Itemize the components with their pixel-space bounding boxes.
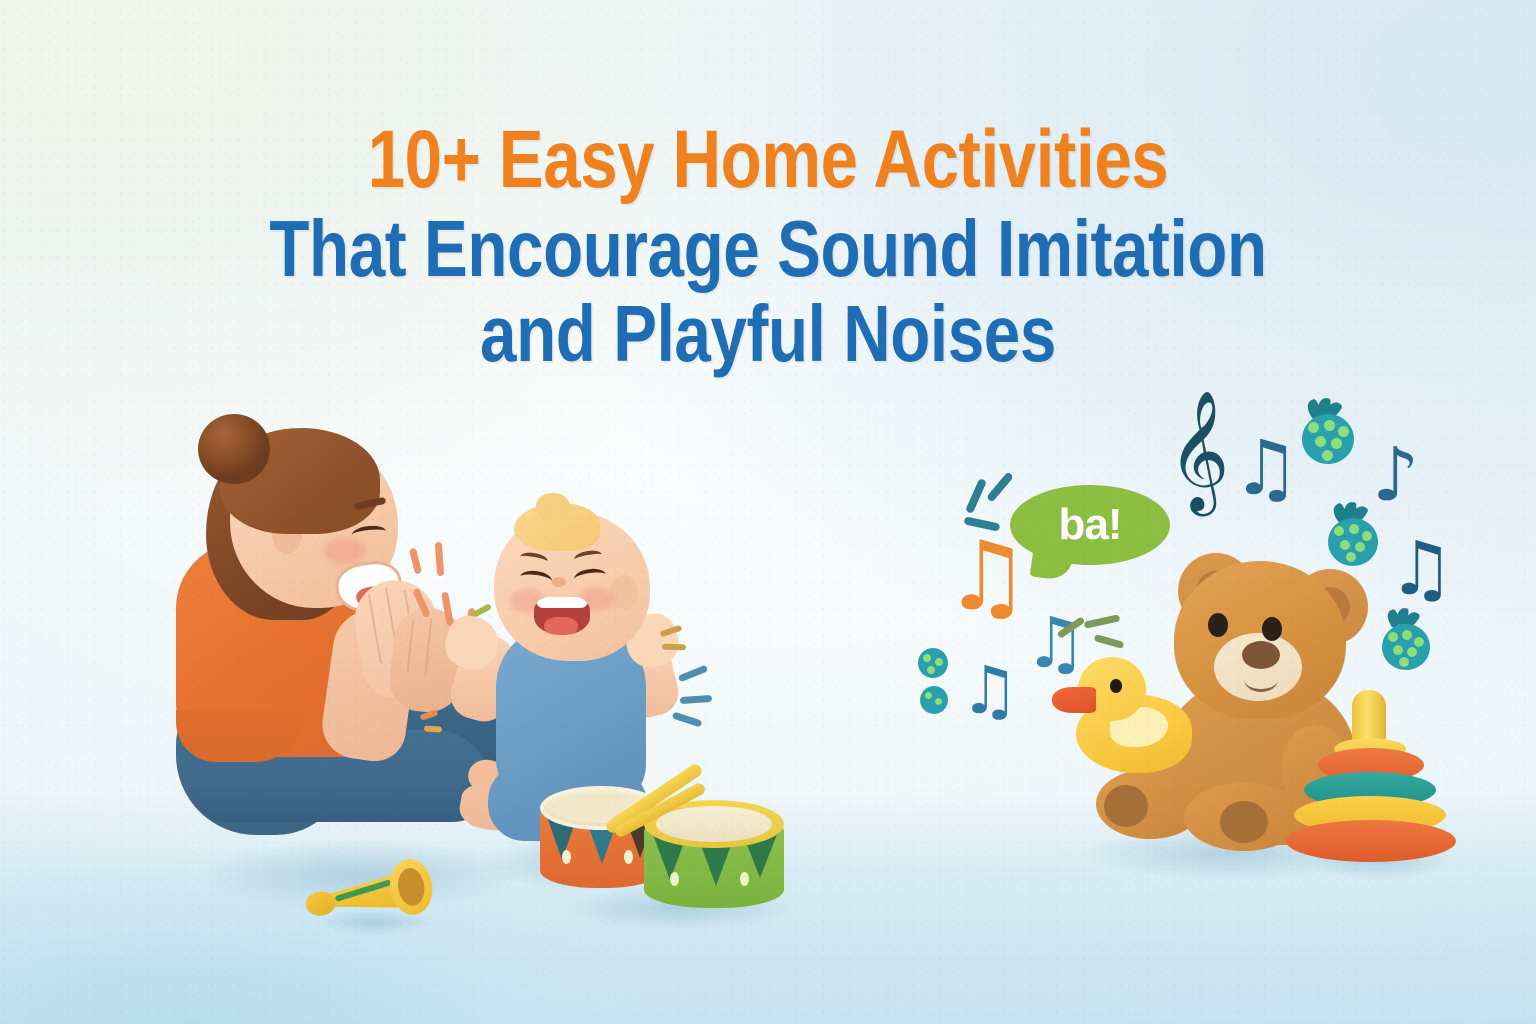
mother-cheek-blush	[324, 538, 366, 564]
motion-dash	[680, 695, 712, 704]
rattle-ball-body	[918, 648, 948, 678]
duck-beak	[1052, 687, 1096, 713]
stacking-rings	[1290, 690, 1460, 865]
baby-open-mouth	[534, 597, 590, 635]
beamed-eighth-notes-right-icon: ♫	[1232, 430, 1300, 506]
baby-teeth	[536, 597, 588, 608]
rubber-duck	[1058, 655, 1193, 785]
toy-drums	[540, 770, 810, 900]
motion-dash	[965, 478, 987, 514]
title-line-3: and Playful Noises	[138, 293, 1398, 375]
treble-clef-icon: 𝄞	[1168, 398, 1229, 502]
teddy-eye-left	[1208, 613, 1228, 637]
speech-bubble-text: ba!	[1010, 485, 1170, 565]
teddy-nose	[1242, 641, 1280, 669]
teddy-eye-right	[1262, 617, 1282, 641]
baby-nose	[552, 577, 566, 587]
baby-ear	[610, 575, 638, 609]
baby-hair-curl	[536, 493, 570, 523]
teddy-mouth	[1244, 667, 1278, 692]
eighth-note-right-icon: ♪	[1372, 438, 1419, 512]
drum-green-head	[656, 806, 772, 842]
motion-dash	[424, 725, 442, 732]
title-line-1: 10+ Easy Home Activities	[138, 118, 1398, 202]
baby-tongue	[544, 617, 578, 635]
motion-dash	[1084, 614, 1121, 628]
title-line-2: That Encourage Sound Imitation	[138, 208, 1398, 290]
motion-dash	[1094, 634, 1125, 649]
rattle-ball-body	[1302, 414, 1354, 464]
illustration-canvas: 10+ Easy Home Activities That Encourage …	[0, 0, 1536, 1024]
drum-green	[644, 800, 784, 908]
stacker-ring-orange-2	[1286, 820, 1456, 862]
title-block: 10+ Easy Home Activities That Encourage …	[0, 118, 1536, 375]
rattle-ball-body	[920, 686, 948, 714]
beamed-eighth-notes-lower-icon: ♫	[960, 658, 1019, 724]
motion-dash	[662, 644, 686, 651]
mother-hair-bun	[198, 414, 270, 484]
duck-eye	[1110, 679, 1122, 693]
